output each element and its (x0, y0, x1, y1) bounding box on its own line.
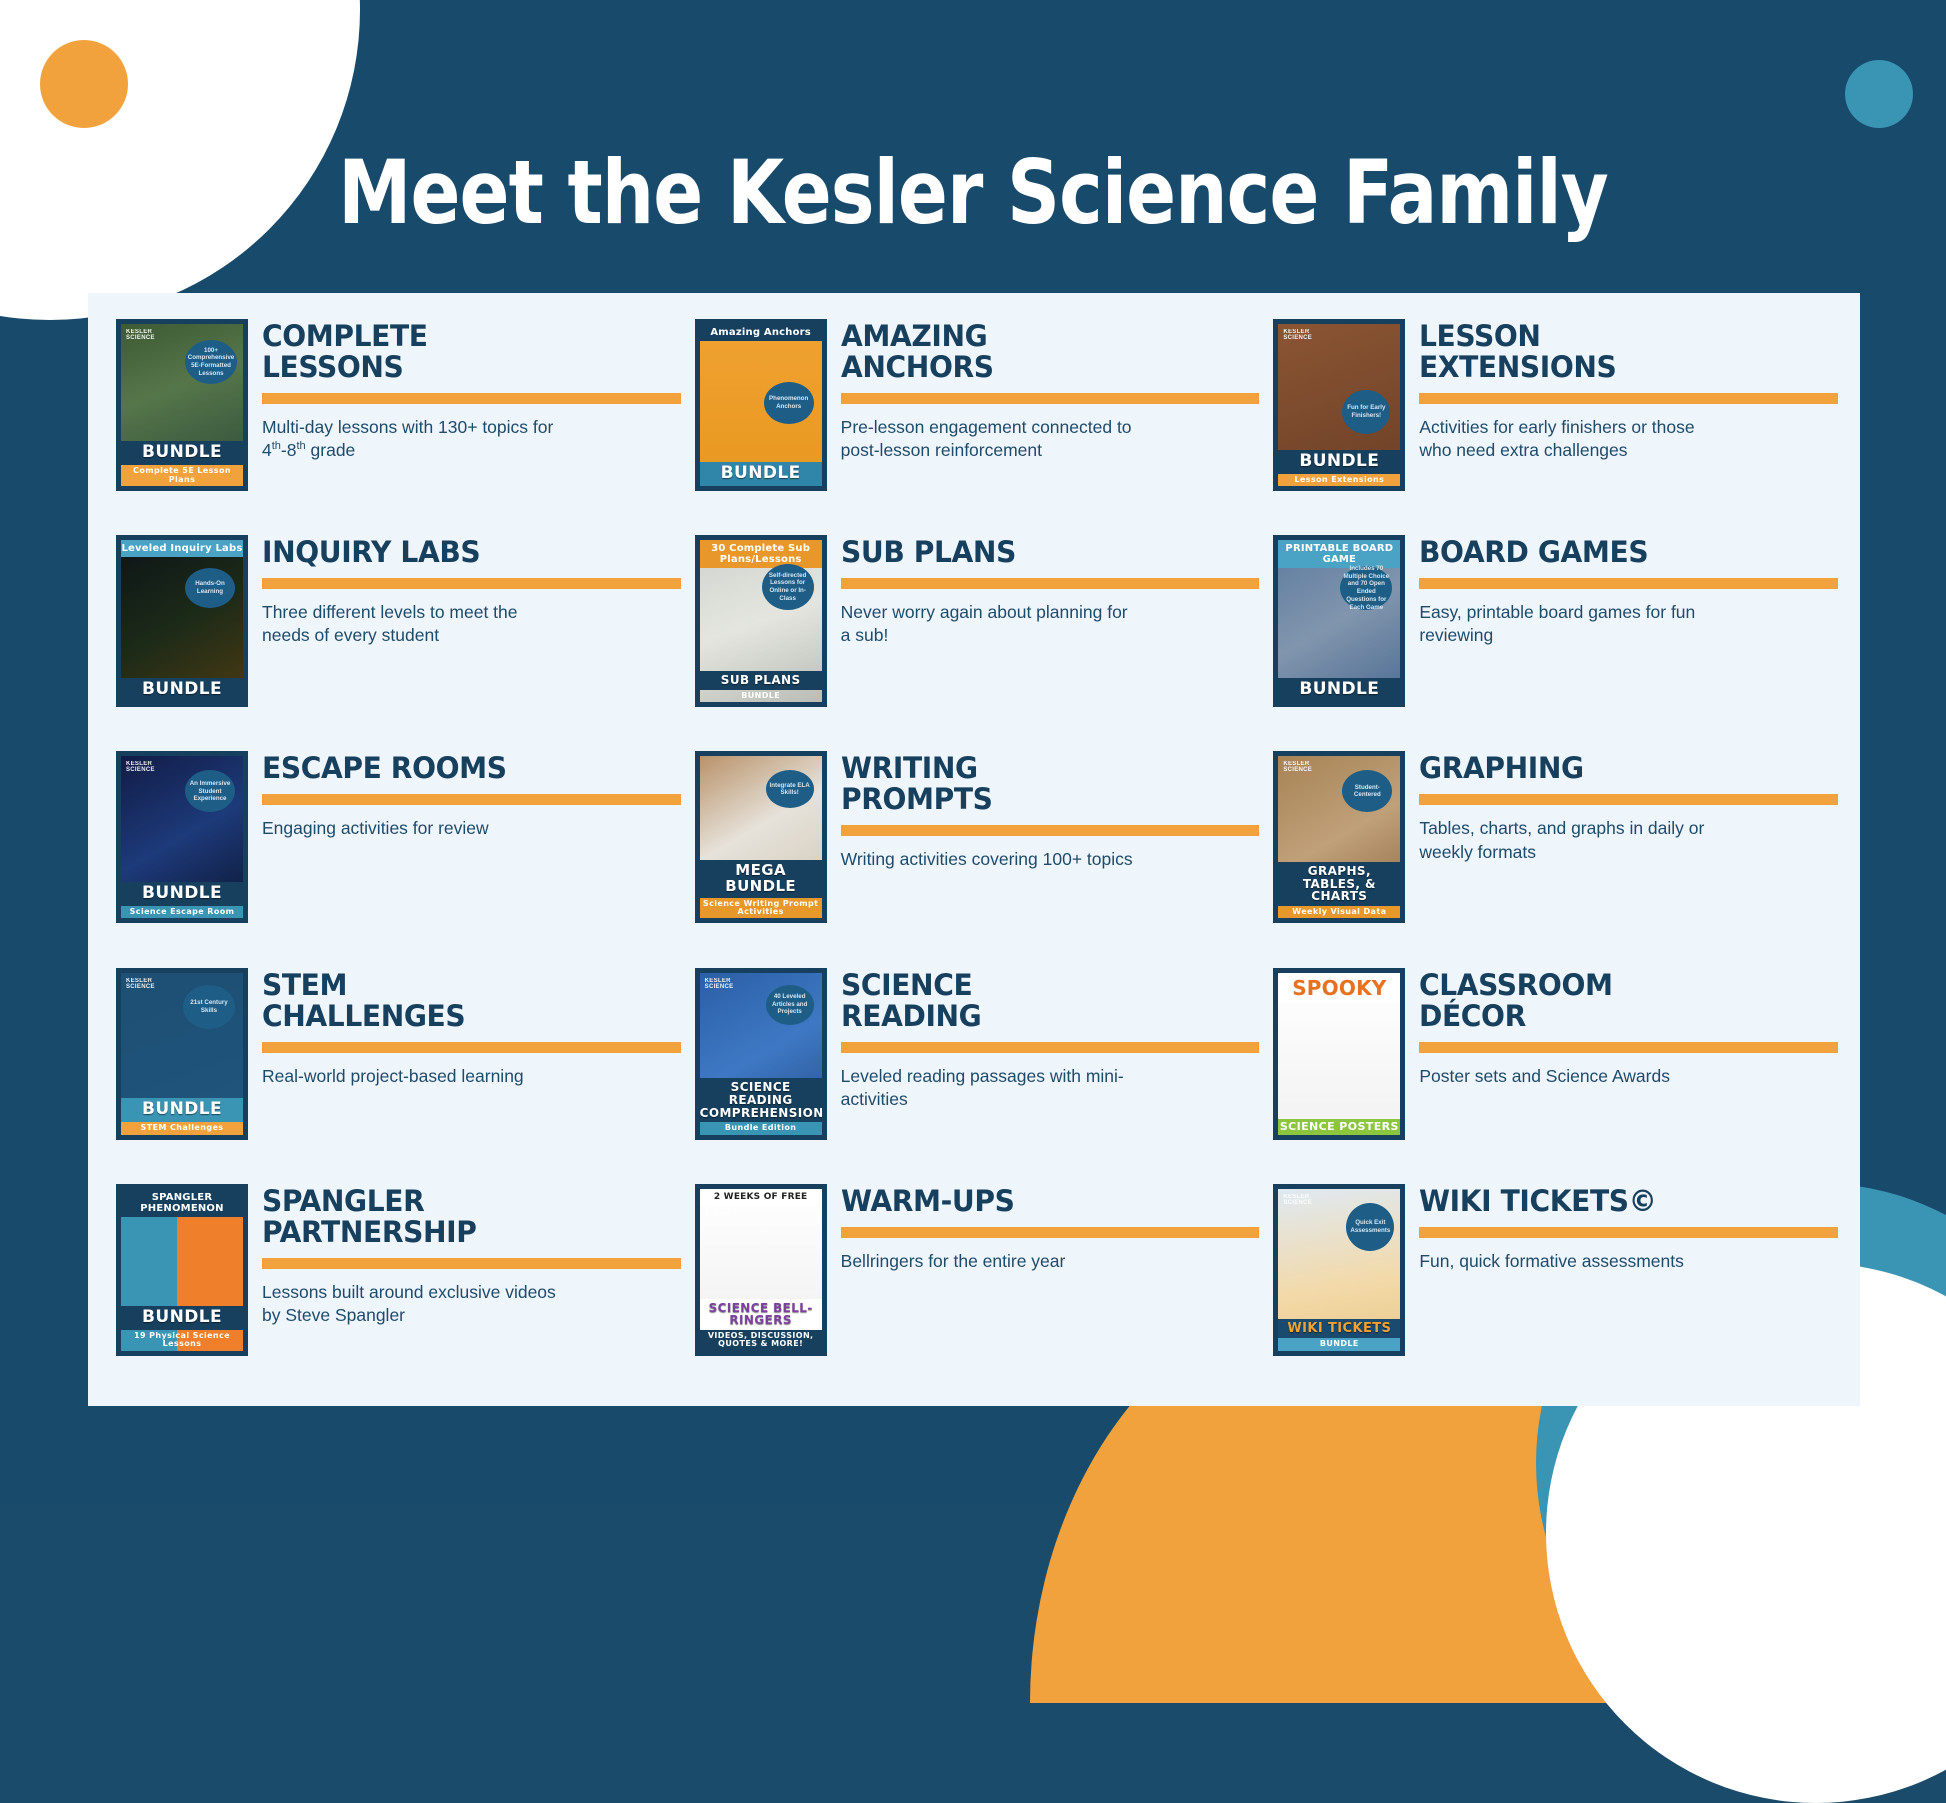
thumbnail-label-secondary: VIDEOS, DISCUSSION, QUOTES & MORE! (700, 1330, 822, 1351)
thumbnail-cover-art: KESLER SCIENCE21st Century SkillsBUNDLES… (116, 968, 248, 1140)
accent-rule (1419, 578, 1838, 589)
product-info: SCIENCE READINGLeveled reading passages … (841, 968, 1260, 1111)
thumbnail-cover-art: KESLER SCIENCE40 Leveled Articles and Pr… (695, 968, 827, 1140)
product-card[interactable]: PRINTABLE BOARD GAMEIncludes 70 Multiple… (1267, 531, 1846, 747)
thumbnail-label-secondary: STEM Challenges (121, 1122, 243, 1134)
product-description: Real-world project-based learning (262, 1065, 562, 1088)
decorative-white-corner-fill (0, 0, 175, 30)
product-info: ESCAPE ROOMSEngaging activities for revi… (262, 751, 681, 840)
decorative-orange-dot (40, 40, 128, 128)
thumbnail-cover-art: Integrate ELA Skills!MEGA BUNDLEScience … (695, 751, 827, 923)
product-title: WIKI TICKETS© (1419, 1186, 1825, 1217)
thumbnail-label-primary: GRAPHS, TABLES, & CHARTS (1278, 862, 1400, 906)
product-title: COMPLETE LESSONS (262, 321, 668, 383)
product-info: COMPLETE LESSONSMulti-day lessons with 1… (262, 319, 681, 462)
product-info: SPANGLER PARTNERSHIPLessons built around… (262, 1184, 681, 1327)
product-title: WRITING PROMPTS (841, 753, 1247, 815)
accent-rule (262, 794, 681, 805)
thumbnail-label: SCIENCE READING COMPREHENSIONBundle Edit… (700, 1078, 822, 1134)
thumbnail-label-secondary: BUNDLE (1278, 1338, 1400, 1350)
kesler-science-logo-icon: KESLER SCIENCE (1283, 1194, 1317, 1212)
kesler-science-logo-icon: KESLER SCIENCE (126, 761, 160, 779)
product-thumbnail[interactable]: KESLER SCIENCEStudent-CenteredGRAPHS, TA… (1273, 751, 1405, 923)
product-description: Writing activities covering 100+ topics (841, 848, 1141, 871)
product-info: AMAZING ANCHORSPre-lesson engagement con… (841, 319, 1260, 462)
product-thumbnail[interactable]: KESLER SCIENCEQuick Exit AssessmentsWIKI… (1273, 1184, 1405, 1356)
product-title: SCIENCE READING (841, 970, 1247, 1032)
decorative-teal-dot (1845, 60, 1913, 128)
product-thumbnail[interactable]: KESLER SCIENCEAn Immersive Student Exper… (116, 751, 248, 923)
product-description: Poster sets and Science Awards (1419, 1065, 1719, 1088)
product-info: INQUIRY LABSThree different levels to me… (262, 535, 681, 647)
thumbnail-label: BUNDLELesson Extensions (1278, 450, 1400, 486)
thumbnail-label-primary: BUNDLE (121, 1306, 243, 1330)
thumbnail-badge: Phenomenon Anchors (764, 382, 814, 424)
thumbnail-top-title: SPOOKY (1278, 973, 1400, 1003)
thumbnail-label-secondary: Science Writing Prompt Activities (700, 898, 822, 919)
product-info: STEM CHALLENGESReal-world project-based … (262, 968, 681, 1088)
thumbnail-badge: Integrate ELA Skills! (766, 770, 814, 808)
thumbnail-label-secondary: Lesson Extensions (1278, 474, 1400, 486)
accent-rule (1419, 393, 1838, 404)
product-thumbnail[interactable]: KESLER SCIENCELeveled Inquiry LabsHands-… (116, 535, 248, 707)
product-description: Tables, charts, and graphs in daily or w… (1419, 817, 1719, 863)
product-info: GRAPHINGTables, charts, and graphs in da… (1419, 751, 1838, 863)
thumbnail-label-secondary: Science Escape Room (121, 906, 243, 918)
accent-rule (262, 393, 681, 404)
thumbnail-top-title: 30 Complete Sub Plans/Lessons (700, 540, 822, 568)
product-card[interactable]: KESLER SCIENCE40 Leveled Articles and Pr… (689, 964, 1268, 1180)
accent-rule (1419, 794, 1838, 805)
product-title: SPANGLER PARTNERSHIP (262, 1186, 668, 1248)
thumbnail-cover-art: KESLER SCIENCE30 Complete Sub Plans/Less… (695, 535, 827, 707)
product-card[interactable]: KESLER SCIENCESPANGLER PHENOMENONBUNDLE1… (110, 1180, 689, 1396)
thumbnail-label-secondary: BUNDLE (700, 690, 822, 702)
thumbnail-cover-art: KESLER SCIENCEFun for Early Finishers!BU… (1273, 319, 1405, 491)
product-card[interactable]: KESLER SCIENCE21st Century SkillsBUNDLES… (110, 964, 689, 1180)
kesler-science-logo-icon: KESLER SCIENCE (1283, 329, 1317, 347)
thumbnail-badge: Fun for Early Finishers! (1342, 390, 1390, 434)
kesler-science-logo-icon: KESLER SCIENCE (126, 978, 160, 996)
product-description: Pre-lesson engagement connected to post-… (841, 416, 1141, 462)
product-info: BOARD GAMESEasy, printable board games f… (1419, 535, 1838, 647)
product-title: BOARD GAMES (1419, 537, 1825, 568)
accent-rule (1419, 1042, 1838, 1053)
product-info: SUB PLANSNever worry again about plannin… (841, 535, 1260, 647)
product-card[interactable]: KESLER SCIENCE100+ Comprehensive 5E-Form… (110, 315, 689, 531)
page-title: Meet the Kesler Science Family (68, 141, 1878, 244)
thumbnail-badge: 100+ Comprehensive 5E-Formatted Lessons (185, 340, 237, 384)
product-description: Bellringers for the entire year (841, 1250, 1141, 1273)
thumbnail-top-title: Leveled Inquiry Labs (121, 540, 243, 557)
product-description: Never worry again about planning for a s… (841, 601, 1141, 647)
product-description: Fun, quick formative assessments (1419, 1250, 1719, 1273)
product-thumbnail[interactable]: SPOOKYSCIENCE POSTERS (1273, 968, 1405, 1140)
thumbnail-label: MEGA BUNDLEScience Writing Prompt Activi… (700, 860, 822, 918)
thumbnail-cover-art: KESLER SCIENCEStudent-CenteredGRAPHS, TA… (1273, 751, 1405, 923)
thumbnail-top-title: 2 WEEKS OF FREE (700, 1189, 822, 1205)
thumbnail-cover-art: KESLER SCIENCEQuick Exit AssessmentsWIKI… (1273, 1184, 1405, 1356)
product-description: Easy, printable board games for fun revi… (1419, 601, 1719, 647)
thumbnail-cover-art: KESLER SCIENCESPANGLER PHENOMENONBUNDLE1… (116, 1184, 248, 1356)
thumbnail-label-primary: SCIENCE BELL-RINGERS (700, 1299, 822, 1330)
product-thumbnail[interactable]: KESLER SCIENCE100+ Comprehensive 5E-Form… (116, 319, 248, 491)
thumbnail-label-primary: BUNDLE (121, 441, 243, 465)
thumbnail-badge: Hands-On Learning (185, 568, 235, 608)
product-panel: KESLER SCIENCE100+ Comprehensive 5E-Form… (88, 293, 1860, 1406)
thumbnail-label-primary: MEGA BUNDLE (700, 860, 822, 898)
product-description: Activities for early finishers or those … (1419, 416, 1719, 462)
accent-rule (262, 1042, 681, 1053)
thumbnail-label-primary: BUNDLE (700, 462, 822, 486)
thumbnail-label: SCIENCE POSTERS (1278, 1119, 1400, 1135)
product-info: CLASSROOM DÉCORPoster sets and Science A… (1419, 968, 1838, 1088)
product-title: GRAPHING (1419, 753, 1825, 784)
thumbnail-label: BUNDLEComplete 5E Lesson Plans (121, 441, 243, 486)
thumbnail-badge: Includes 70 Multiple Choice and 70 Open … (1340, 566, 1392, 610)
accent-rule (262, 1258, 681, 1269)
product-thumbnail[interactable]: KESLER SCIENCEFun for Early Finishers!BU… (1273, 319, 1405, 491)
thumbnail-label-primary: SCIENCE READING COMPREHENSION (700, 1078, 822, 1122)
accent-rule (841, 578, 1260, 589)
thumbnail-label: BUNDLE (700, 462, 822, 486)
thumbnail-top-title: SPANGLER PHENOMENON (121, 1189, 243, 1217)
thumbnail-label-primary: BUNDLE (1278, 678, 1400, 702)
product-card[interactable]: KESLER SCIENCELeveled Inquiry LabsHands-… (110, 531, 689, 747)
product-title: STEM CHALLENGES (262, 970, 668, 1032)
thumbnail-label: BUNDLEScience Escape Room (121, 882, 243, 918)
product-description: Three different levels to meet the needs… (262, 601, 562, 647)
product-title: WARM-UPS (841, 1186, 1247, 1217)
product-card[interactable]: KESLER SCIENCEAn Immersive Student Exper… (110, 747, 689, 963)
product-title: AMAZING ANCHORS (841, 321, 1247, 383)
product-card[interactable]: FULL-YEAR RESOURCE SAMPLE2 WEEKS OF FREE… (689, 1180, 1268, 1396)
product-grid: KESLER SCIENCE100+ Comprehensive 5E-Form… (88, 293, 1860, 1406)
product-info: WIKI TICKETS©Fun, quick formative assess… (1419, 1184, 1838, 1273)
kesler-science-logo-icon: KESLER SCIENCE (1283, 761, 1317, 779)
thumbnail-badge: 40 Leveled Articles and Projects (766, 985, 814, 1025)
thumbnail-cover-art: KESLER SCIENCE100+ Comprehensive 5E-Form… (116, 319, 248, 491)
thumbnail-label: BUNDLESTEM Challenges (121, 1098, 243, 1134)
kesler-science-logo-icon: KESLER SCIENCE (126, 329, 160, 347)
accent-rule (841, 1227, 1260, 1238)
product-title: INQUIRY LABS (262, 537, 668, 568)
product-thumbnail[interactable]: KESLER SCIENCE21st Century SkillsBUNDLES… (116, 968, 248, 1140)
thumbnail-label-secondary: Complete 5E Lesson Plans (121, 465, 243, 486)
thumbnail-label-primary: BUNDLE (121, 882, 243, 906)
thumbnail-cover-art: PRINTABLE BOARD GAMEIncludes 70 Multiple… (1273, 535, 1405, 707)
product-info: WARM-UPSBellringers for the entire year (841, 1184, 1260, 1273)
product-description: Leveled reading passages with mini-activ… (841, 1065, 1141, 1111)
accent-rule (1419, 1227, 1838, 1238)
thumbnail-label: WIKI TICKETSBUNDLE (1278, 1319, 1400, 1351)
product-thumbnail[interactable]: KESLER SCIENCE30 Complete Sub Plans/Less… (695, 535, 827, 707)
product-thumbnail[interactable]: Amazing AnchorsPhenomenon AnchorsBUNDLE (695, 319, 827, 491)
thumbnail-cover-art: SPOOKYSCIENCE POSTERS (1273, 968, 1405, 1140)
thumbnail-top-title: Amazing Anchors (700, 324, 822, 341)
thumbnail-label-primary: SUB PLANS (700, 671, 822, 690)
accent-rule (262, 578, 681, 589)
accent-rule (841, 825, 1260, 836)
product-card[interactable]: Integrate ELA Skills!MEGA BUNDLEScience … (689, 747, 1268, 963)
product-thumbnail[interactable]: FULL-YEAR RESOURCE SAMPLE2 WEEKS OF FREE… (695, 1184, 827, 1356)
thumbnail-label-secondary: SCIENCE POSTERS (1278, 1119, 1400, 1135)
thumbnail-cover-art: KESLER SCIENCELeveled Inquiry LabsHands-… (116, 535, 248, 707)
product-title: LESSON EXTENSIONS (1419, 321, 1825, 383)
thumbnail-label-secondary: Weekly Visual Data (1278, 906, 1400, 918)
accent-rule (841, 393, 1260, 404)
product-description: Multi-day lessons with 130+ topics for 4… (262, 416, 562, 462)
product-card[interactable]: KESLER SCIENCEStudent-CenteredGRAPHS, TA… (1267, 747, 1846, 963)
thumbnail-label-primary: BUNDLE (121, 1098, 243, 1122)
thumbnail-label-primary: BUNDLE (1278, 450, 1400, 474)
thumbnail-cover-art: FULL-YEAR RESOURCE SAMPLE2 WEEKS OF FREE… (695, 1184, 827, 1356)
product-description: Engaging activities for review (262, 817, 562, 840)
product-thumbnail[interactable]: PRINTABLE BOARD GAMEIncludes 70 Multiple… (1273, 535, 1405, 707)
thumbnail-label: BUNDLE (1278, 678, 1400, 702)
thumbnail-cover-art: KESLER SCIENCEAn Immersive Student Exper… (116, 751, 248, 923)
thumbnail-label: GRAPHS, TABLES, & CHARTSWeekly Visual Da… (1278, 862, 1400, 918)
thumbnail-label: BUNDLE19 Physical Science Lessons (121, 1306, 243, 1351)
product-title: SUB PLANS (841, 537, 1247, 568)
product-card[interactable]: KESLER SCIENCE30 Complete Sub Plans/Less… (689, 531, 1268, 747)
thumbnail-label-primary: WIKI TICKETS (1278, 1319, 1400, 1339)
product-card[interactable]: SPOOKYSCIENCE POSTERSCLASSROOM DÉCORPost… (1267, 964, 1846, 1180)
product-card[interactable]: Amazing AnchorsPhenomenon AnchorsBUNDLEA… (689, 315, 1268, 531)
product-title: CLASSROOM DÉCOR (1419, 970, 1825, 1032)
product-thumbnail[interactable]: Integrate ELA Skills!MEGA BUNDLEScience … (695, 751, 827, 923)
product-thumbnail[interactable]: KESLER SCIENCESPANGLER PHENOMENONBUNDLE1… (116, 1184, 248, 1356)
product-info: LESSON EXTENSIONSActivities for early fi… (1419, 319, 1838, 462)
thumbnail-label: SCIENCE BELL-RINGERSVIDEOS, DISCUSSION, … (700, 1299, 822, 1351)
kesler-science-logo-icon: KESLER SCIENCE (705, 978, 739, 996)
product-card[interactable]: KESLER SCIENCEFun for Early Finishers!BU… (1267, 315, 1846, 531)
thumbnail-label-primary: BUNDLE (121, 678, 243, 702)
product-card[interactable]: KESLER SCIENCEQuick Exit AssessmentsWIKI… (1267, 1180, 1846, 1396)
thumbnail-badge: Quick Exit Assessments (1346, 1203, 1394, 1251)
thumbnail-badge: 21st Century Skills (183, 985, 235, 1029)
thumbnail-badge: Self-directed Lessons for Online or In-C… (762, 564, 814, 610)
thumbnail-label: BUNDLE (121, 678, 243, 702)
product-info: WRITING PROMPTSWriting activities coveri… (841, 751, 1260, 871)
thumbnail-cover-art: Amazing AnchorsPhenomenon AnchorsBUNDLE (695, 319, 827, 491)
thumbnail-label: SUB PLANSBUNDLE (700, 671, 822, 702)
thumbnail-label-secondary: Bundle Edition (700, 1122, 822, 1134)
product-title: ESCAPE ROOMS (262, 753, 668, 784)
product-description: Lessons built around exclusive videos by… (262, 1281, 562, 1327)
thumbnail-label-secondary: 19 Physical Science Lessons (121, 1330, 243, 1351)
accent-rule (841, 1042, 1260, 1053)
product-thumbnail[interactable]: KESLER SCIENCE40 Leveled Articles and Pr… (695, 968, 827, 1140)
